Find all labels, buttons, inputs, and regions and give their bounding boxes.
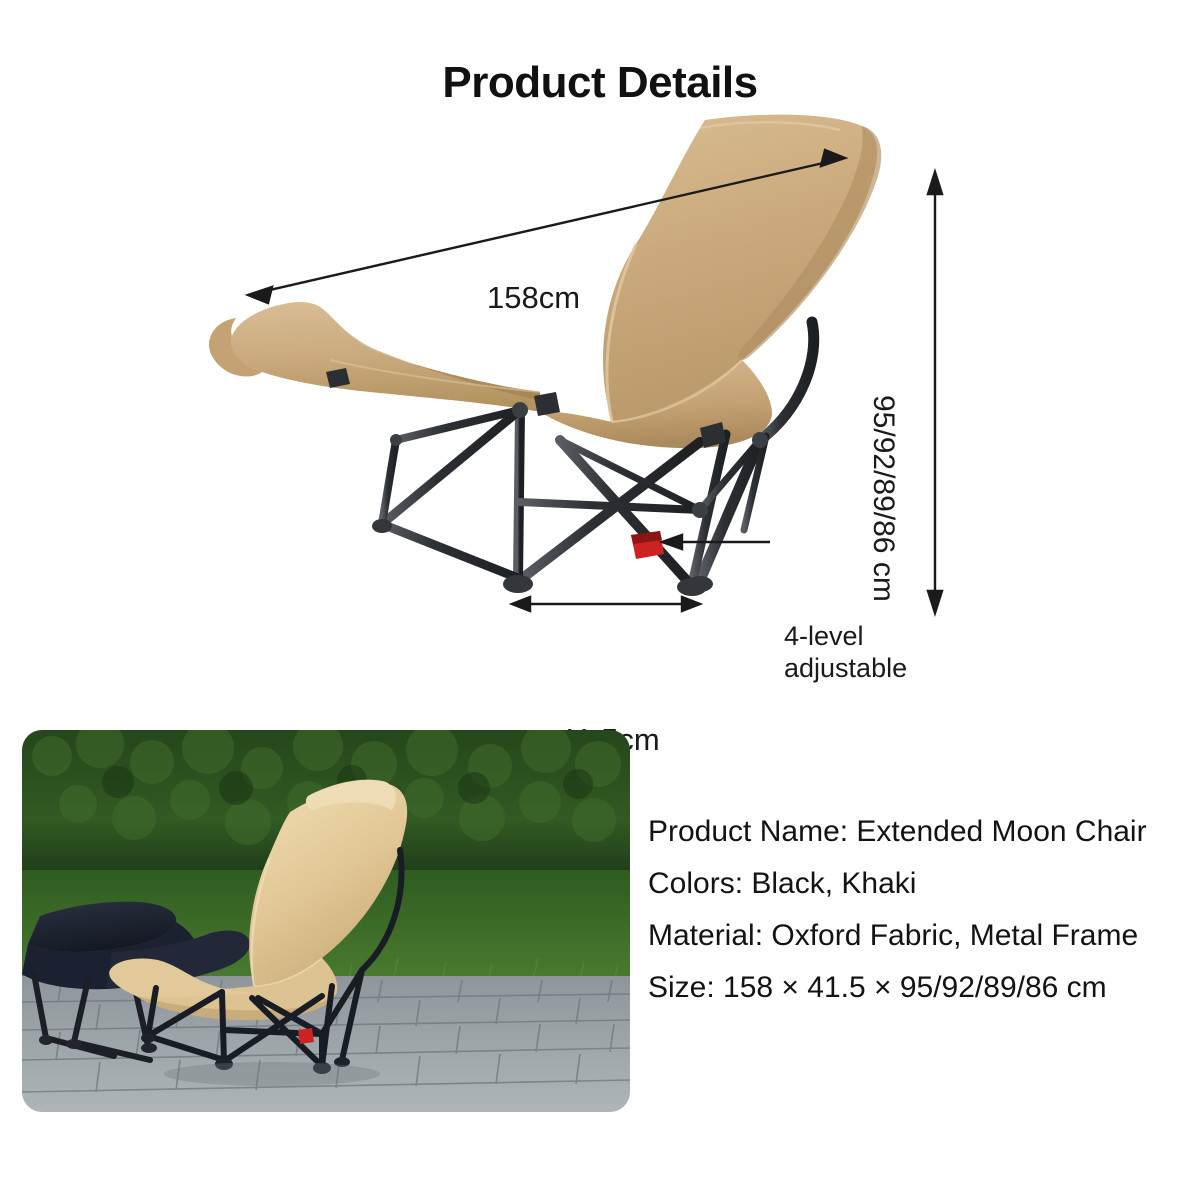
chair-illustration [0, 110, 1200, 670]
arrowhead-width-right [682, 597, 700, 611]
spec-colors: Colors: Black, Khaki [648, 858, 1200, 910]
arrowhead-length-left [248, 287, 272, 303]
adjustment-clip-icon [631, 531, 664, 559]
product-photo [22, 730, 630, 1112]
product-photo-scene [22, 730, 630, 1112]
feature-callout: 4-level adjustable [784, 621, 907, 685]
spec-product-name: Product Name: Extended Moon Chair [648, 806, 1200, 858]
arrowhead-width-left [512, 597, 530, 611]
arrowhead-adjustable [662, 535, 682, 549]
dimension-label-height: 95/92/89/86 cm [866, 395, 900, 602]
chair-footrest-fabric [231, 302, 540, 412]
product-spec-list: Product Name: Extended Moon Chair Colors… [648, 806, 1200, 1014]
product-diagram: 158cm 41.5cm 95/92/89/86 cm 4-level adju… [0, 110, 1200, 670]
dimension-label-length: 158cm [487, 280, 580, 316]
chair-frame [382, 322, 814, 584]
adjustment-clip-photo-icon [298, 1028, 314, 1044]
feature-callout-line2: adjustable [784, 653, 907, 685]
feature-callout-line1: 4-level [784, 621, 907, 653]
arrowhead-height-bottom [928, 591, 942, 613]
page-title: Product Details [0, 58, 1200, 108]
arrowhead-height-top [928, 172, 942, 194]
spec-size: Size: 158 × 41.5 × 95/92/89/86 cm [648, 962, 1200, 1014]
spec-material: Material: Oxford Fabric, Metal Frame [648, 910, 1200, 962]
